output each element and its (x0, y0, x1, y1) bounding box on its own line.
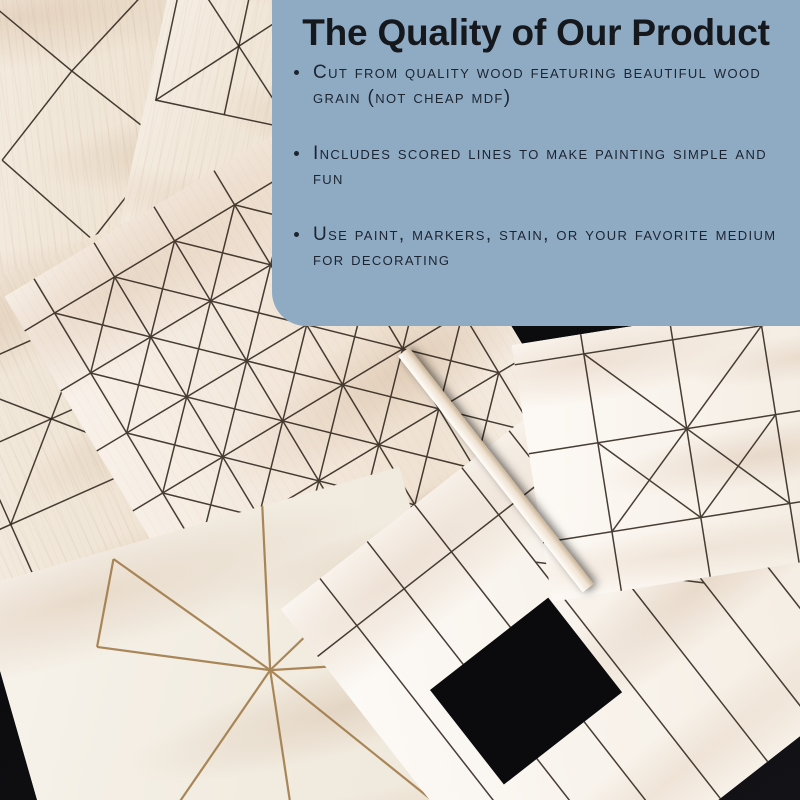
list-item: Includes scored lines to make painting s… (291, 141, 790, 192)
feature-callout-panel: The Quality of Our Product Cut from qual… (272, 0, 800, 326)
bullet-dot (294, 151, 299, 156)
bullet-dot (294, 70, 299, 75)
list-item-label: Cut from quality wood featuring beautifu… (313, 62, 761, 108)
bullet-dot (294, 232, 299, 237)
list-item: Cut from quality wood featuring beautifu… (291, 60, 790, 111)
list-item-label: Includes scored lines to make painting s… (313, 143, 767, 189)
list-item-label: Use paint, markers, stain, or your favor… (313, 224, 776, 270)
list-item: Use paint, markers, stain, or your favor… (291, 222, 790, 273)
product-feature-image: The Quality of Our Product Cut from qual… (0, 0, 800, 800)
panel-title: The Quality of Our Product (280, 14, 792, 51)
feature-list: Cut from quality wood featuring beautifu… (291, 60, 790, 297)
